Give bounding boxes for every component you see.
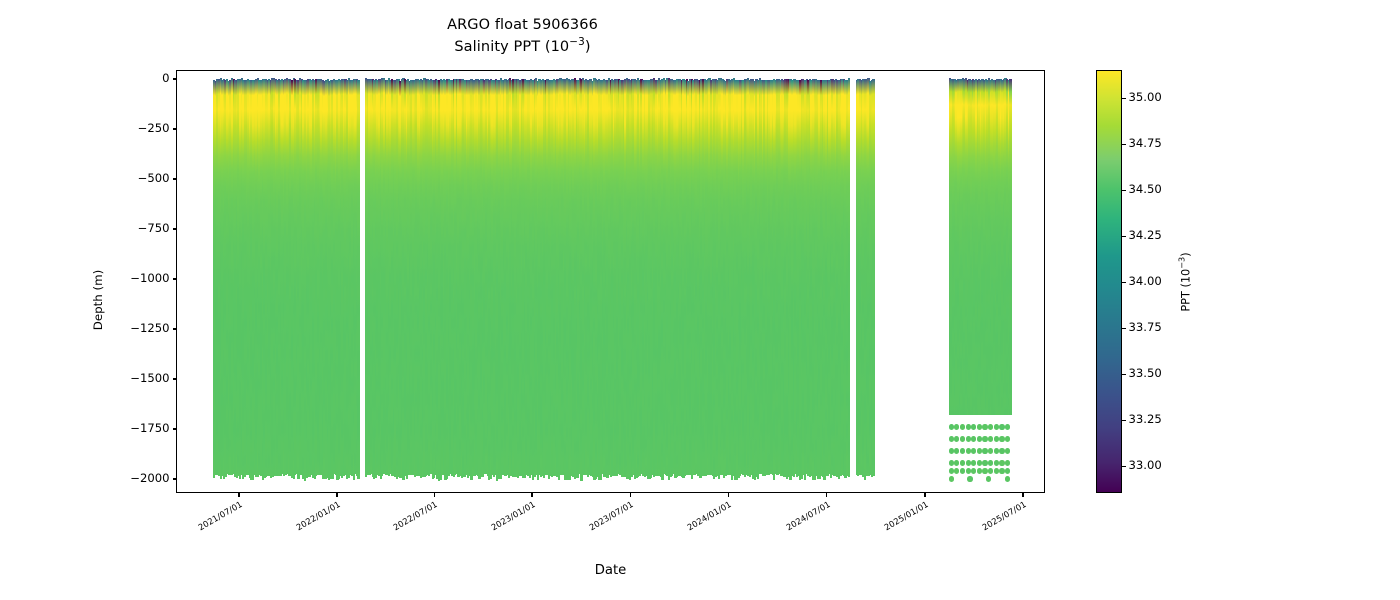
x-tick-mark [1022,492,1023,497]
sparse-sample-point [971,424,976,429]
y-tick-label: −1750 [130,421,169,435]
sparse-sample-point [954,460,959,465]
colorbar-tick-mark [1121,420,1126,421]
y-tick-mark [173,178,178,179]
figure-canvas: ARGO float 5906366 Salinity PPT (10−3) D… [0,0,1400,600]
sparse-sample-point [988,448,993,453]
x-tick-label: 2024/01/01 [686,499,734,532]
sparse-sample-group [949,71,1011,492]
sparse-sample-point [966,460,971,465]
colorbar-tick-label: 33.75 [1129,320,1162,334]
data-area [177,71,1044,492]
colorbar-tick-label: 35.00 [1129,90,1162,104]
colorbar-tick-label: 34.25 [1129,228,1162,242]
colorbar-tick-mark [1121,190,1126,191]
sparse-sample-point [988,468,993,473]
x-tick-label: 2025/07/01 [980,499,1028,532]
sparse-sample-point [960,468,965,473]
y-tick-label: −2000 [130,471,169,485]
x-tick-label: 2023/07/01 [587,499,635,532]
sparse-sample-point [1005,424,1010,429]
y-tick-mark [173,228,178,229]
sparse-sample-point [977,460,982,465]
sparse-sample-point [982,424,987,429]
y-tick-mark [173,328,178,329]
profile-column [872,79,874,476]
x-tick-mark [336,492,337,497]
sparse-sample-point [954,468,959,473]
sparse-sample-point [1005,476,1010,481]
profile-column [357,80,359,479]
sparse-sample-point [1005,468,1010,473]
sparse-sample-point [960,436,965,441]
sparse-sample-point [986,476,991,481]
sparse-sample-point [977,424,982,429]
x-tick-mark [630,492,631,497]
colorbar-tick-label: 33.00 [1129,458,1162,472]
x-tick-mark [826,492,827,497]
y-tick-label: −1000 [130,271,169,285]
x-tick-label: 2022/01/01 [294,499,342,532]
colorbar-tick-mark [1121,282,1126,283]
sparse-sample-point [967,476,972,481]
colorbar-tick-label: 34.50 [1129,182,1162,196]
x-tick-mark [238,492,239,497]
sparse-sample-point [949,460,954,465]
y-tick-mark [173,78,178,79]
x-axis-label: Date [176,563,1045,578]
sparse-sample-point [999,424,1004,429]
colorbar-tick-label: 33.50 [1129,366,1162,380]
sparse-sample-point [949,424,954,429]
sparse-sample-point [977,468,982,473]
sparse-sample-point [971,436,976,441]
sparse-sample-point [960,424,965,429]
colorbar-tick-mark [1121,98,1126,99]
sparse-sample-point [966,448,971,453]
sparse-sample-point [954,436,959,441]
sparse-sample-point [949,468,954,473]
colorbar-tick-label: 34.00 [1129,274,1162,288]
sparse-sample-point [982,460,987,465]
x-tick-label: 2025/01/01 [882,499,930,532]
sparse-sample-point [988,460,993,465]
colorbar-tick-mark [1121,144,1126,145]
sparse-sample-point [994,436,999,441]
sparse-sample-point [966,436,971,441]
sparse-sample-point [999,436,1004,441]
sparse-sample-point [994,468,999,473]
sparse-sample-point [999,448,1004,453]
y-tick-mark [173,428,178,429]
sparse-sample-point [971,448,976,453]
y-tick-mark [173,478,178,479]
title-line-1: ARGO float 5906366 [447,17,598,33]
colorbar-tick-label: 33.25 [1129,412,1162,426]
sparse-sample-point [994,460,999,465]
sparse-sample-point [994,448,999,453]
x-tick-label: 2024/07/01 [784,499,832,532]
sparse-sample-point [1005,460,1010,465]
sparse-sample-point [960,460,965,465]
sparse-sample-point [1005,436,1010,441]
sparse-sample-point [971,460,976,465]
y-tick-label: −500 [138,171,170,185]
sparse-sample-point [977,436,982,441]
y-tick-label: −1500 [130,371,169,385]
sparse-sample-point [982,468,987,473]
colorbar-tick-label: 34.75 [1129,136,1162,150]
y-tick-label: −750 [138,221,170,235]
sparse-sample-point [1005,448,1010,453]
y-tick-label: 0 [162,71,169,85]
y-tick-label: −250 [138,121,170,135]
colorbar-tick-mark [1121,374,1126,375]
sparse-sample-point [954,424,959,429]
y-tick-label: −1250 [130,321,169,335]
sparse-sample-point [960,448,965,453]
colorbar-tick-mark [1121,466,1126,467]
sparse-sample-point [982,436,987,441]
x-tick-mark [434,492,435,497]
sparse-sample-point [977,448,982,453]
colorbar[interactable]: 33.0033.2533.5033.7534.0034.2534.5034.75… [1096,70,1122,493]
sparse-sample-point [949,448,954,453]
sparse-sample-point [988,436,993,441]
sparse-sample-point [954,448,959,453]
y-tick-mark [173,128,178,129]
figure-title: ARGO float 5906366 Salinity PPT (10−3) [0,14,1045,59]
colorbar-label: PPT (10−3) [1180,252,1193,311]
colorbar-tick-mark [1121,328,1126,329]
x-tick-label: 2023/01/01 [489,499,537,532]
sparse-sample-point [999,460,1004,465]
x-tick-label: 2022/07/01 [392,499,440,532]
sparse-sample-point [999,468,1004,473]
sparse-sample-point [966,468,971,473]
sparse-sample-point [982,448,987,453]
y-tick-mark [173,378,178,379]
sparse-sample-point [971,468,976,473]
colorbar-tick-mark [1121,236,1126,237]
y-axis-label: Depth (m) [91,270,105,330]
sparse-sample-point [994,424,999,429]
y-tick-mark [173,278,178,279]
sparse-sample-point [949,476,954,481]
title-line-2: Salinity PPT (10−3) [0,36,1045,58]
x-tick-mark [728,492,729,497]
profile-column [848,78,850,477]
sparse-sample-point [949,436,954,441]
sparse-sample-point [966,424,971,429]
sparse-sample-point [988,424,993,429]
x-tick-mark [531,492,532,497]
x-tick-label: 2021/07/01 [196,499,244,532]
x-tick-mark [924,492,925,497]
plot-axes[interactable]: 0−250−500−750−1000−1250−1500−1750−2000 2… [176,70,1045,493]
